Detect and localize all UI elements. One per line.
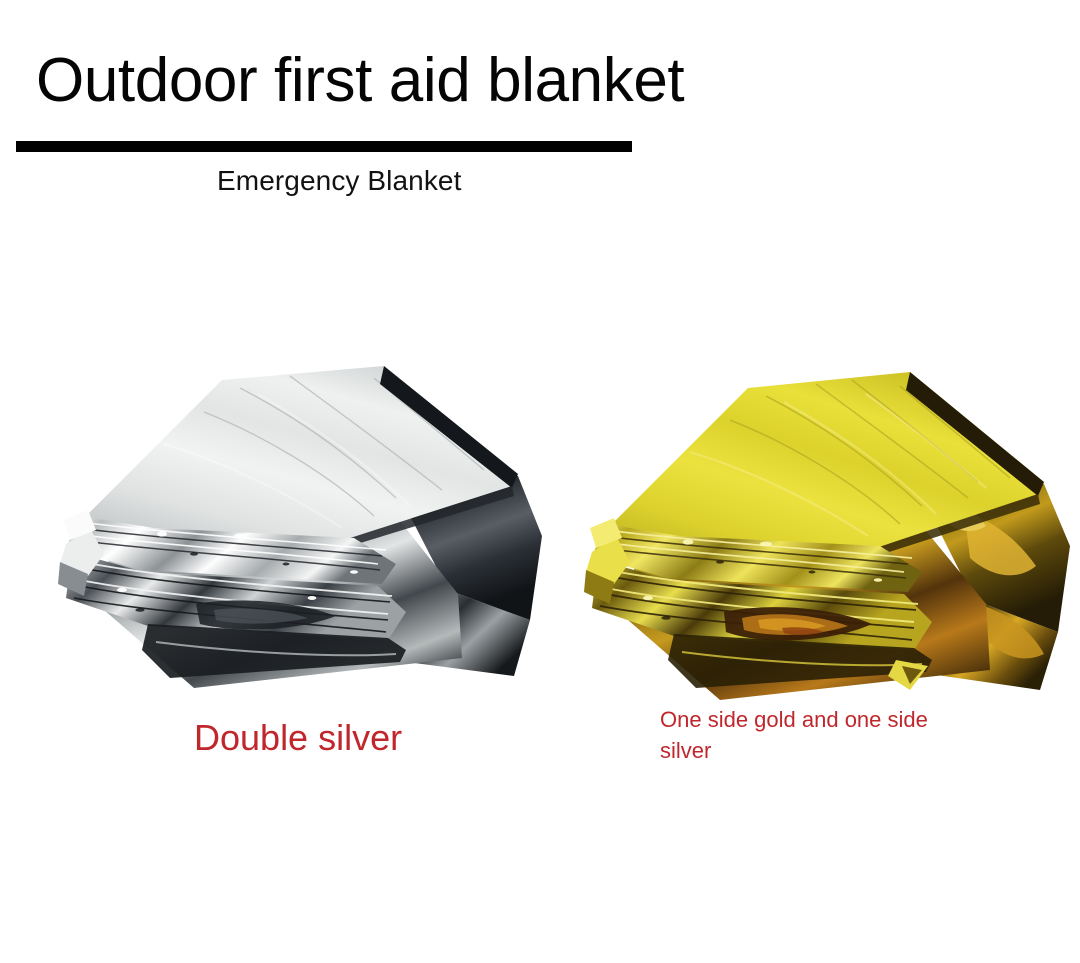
page-title: Outdoor first aid blanket: [36, 46, 684, 115]
title-underline-rule: [16, 141, 632, 152]
caption-double-silver: Double silver: [194, 718, 402, 758]
folded-gold-emergency-blanket-icon: [566, 360, 1080, 712]
caption-gold-and-silver: One side gold and one side silver: [660, 704, 978, 766]
folded-silver-emergency-blanket-icon: [44, 358, 554, 703]
page-subtitle: Emergency Blanket: [217, 166, 462, 197]
